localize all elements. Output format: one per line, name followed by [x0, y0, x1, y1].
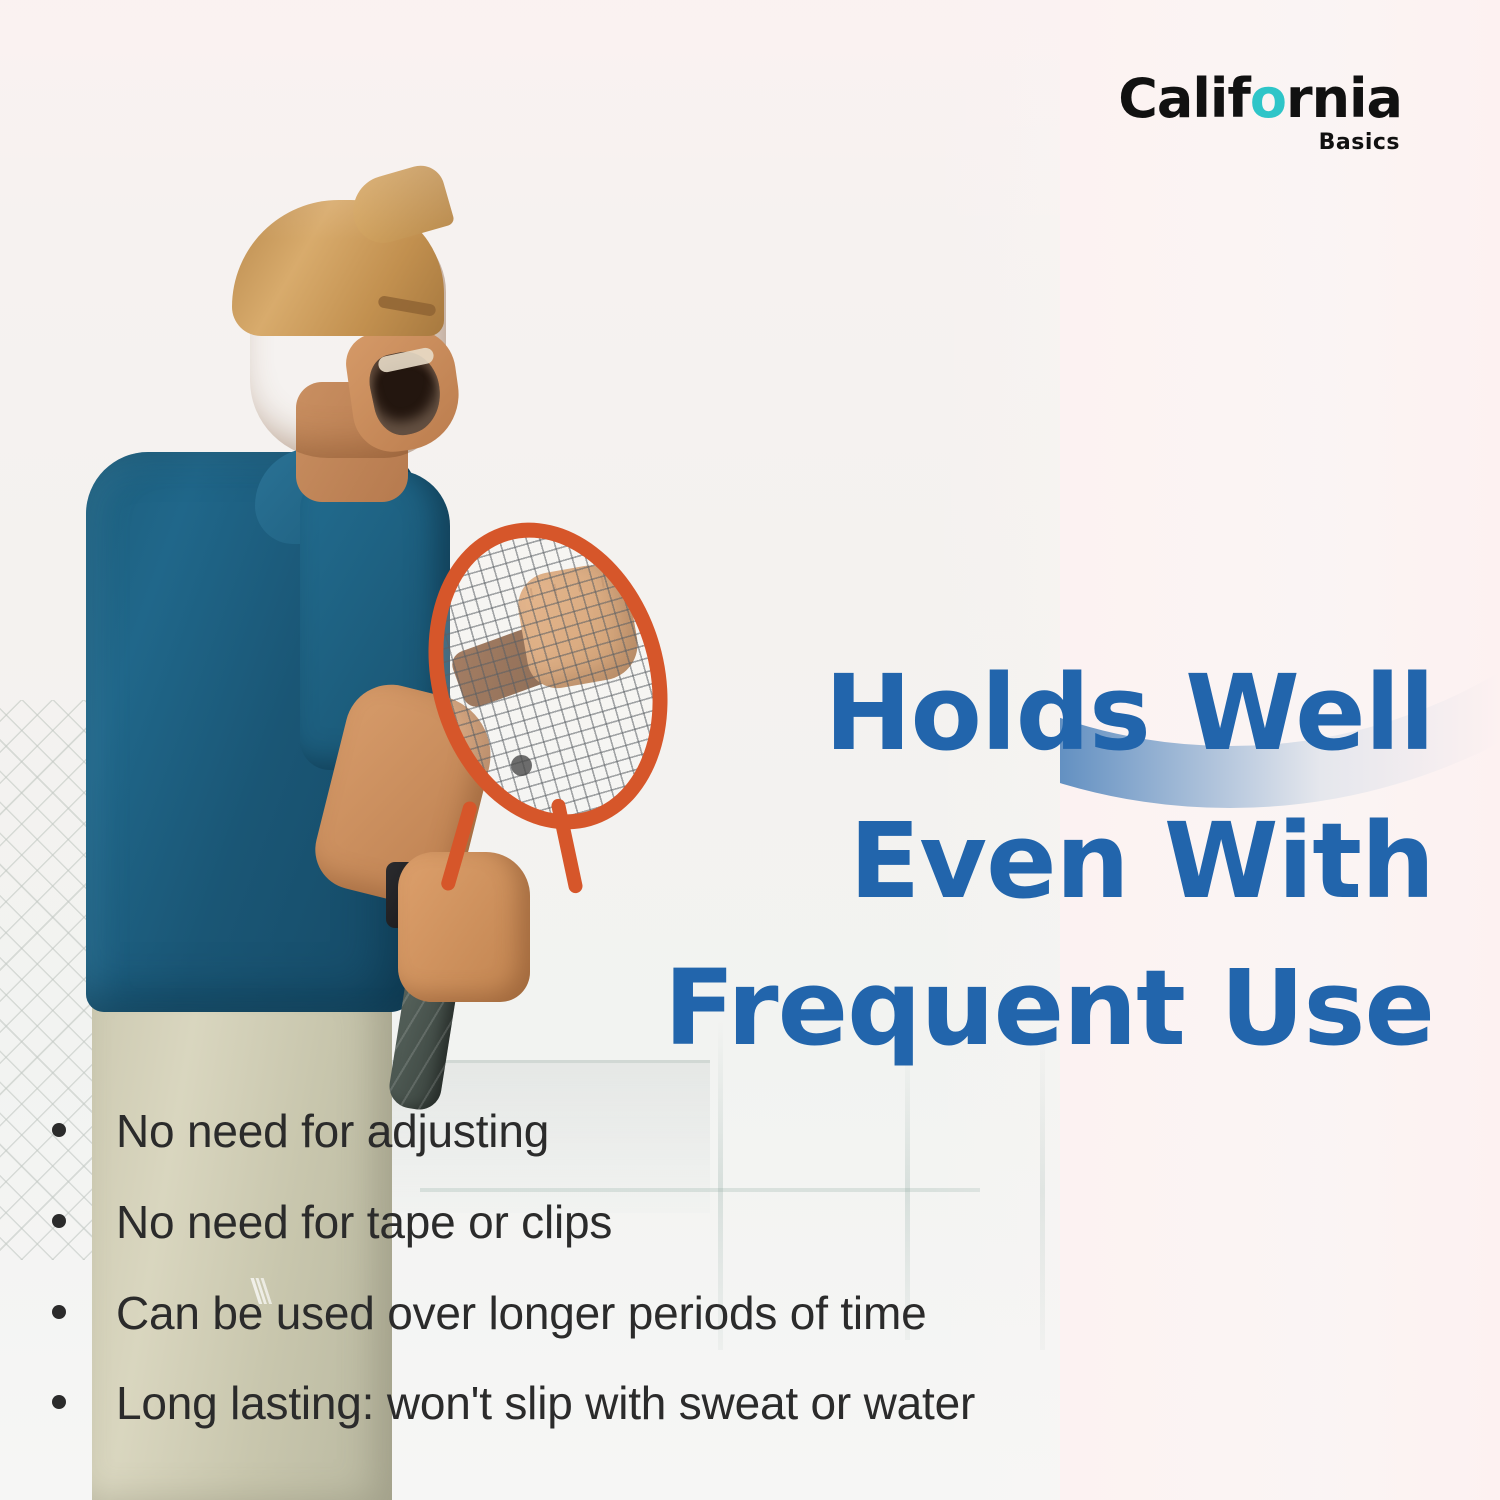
- list-item: Long lasting: won't slip with sweat or w…: [52, 1379, 1352, 1428]
- bullet-dot-icon: [52, 1305, 66, 1319]
- brand-name-part2: rnia: [1286, 67, 1402, 130]
- brand-name-accent-o: o: [1250, 67, 1286, 130]
- athlete-gripping-hand: [398, 852, 530, 1002]
- brand-logo: California Basics: [1118, 72, 1402, 154]
- bullet-text: No need for adjusting: [116, 1107, 549, 1156]
- bullet-dot-icon: [52, 1395, 66, 1409]
- athlete-ear: [272, 316, 316, 372]
- headline: Holds Well Even With Frequent Use: [574, 640, 1434, 1083]
- list-item: No need for adjusting: [52, 1107, 1352, 1156]
- bullet-dot-icon: [52, 1123, 66, 1137]
- brand-name: California: [1118, 72, 1402, 126]
- racket-dampener-icon: [511, 755, 532, 776]
- headline-line-1: Holds Well: [574, 640, 1434, 788]
- list-item: No need for tape or clips: [52, 1198, 1352, 1247]
- headline-line-3: Frequent Use: [574, 935, 1434, 1083]
- bullet-dot-icon: [52, 1214, 66, 1228]
- promo-banner: California Basics Holds Well Even With F…: [0, 0, 1500, 1500]
- brand-subtitle: Basics: [1118, 132, 1400, 154]
- list-item: Can be used over longer periods of time: [52, 1289, 1352, 1338]
- feature-bullet-list: No need for adjusting No need for tape o…: [52, 1107, 1352, 1428]
- bullet-text: Long lasting: won't slip with sweat or w…: [116, 1379, 975, 1428]
- brand-name-part1: Calif: [1118, 67, 1250, 130]
- bullet-text: Can be used over longer periods of time: [116, 1289, 926, 1338]
- headline-line-2: Even With: [574, 788, 1434, 936]
- bullet-text: No need for tape or clips: [116, 1198, 612, 1247]
